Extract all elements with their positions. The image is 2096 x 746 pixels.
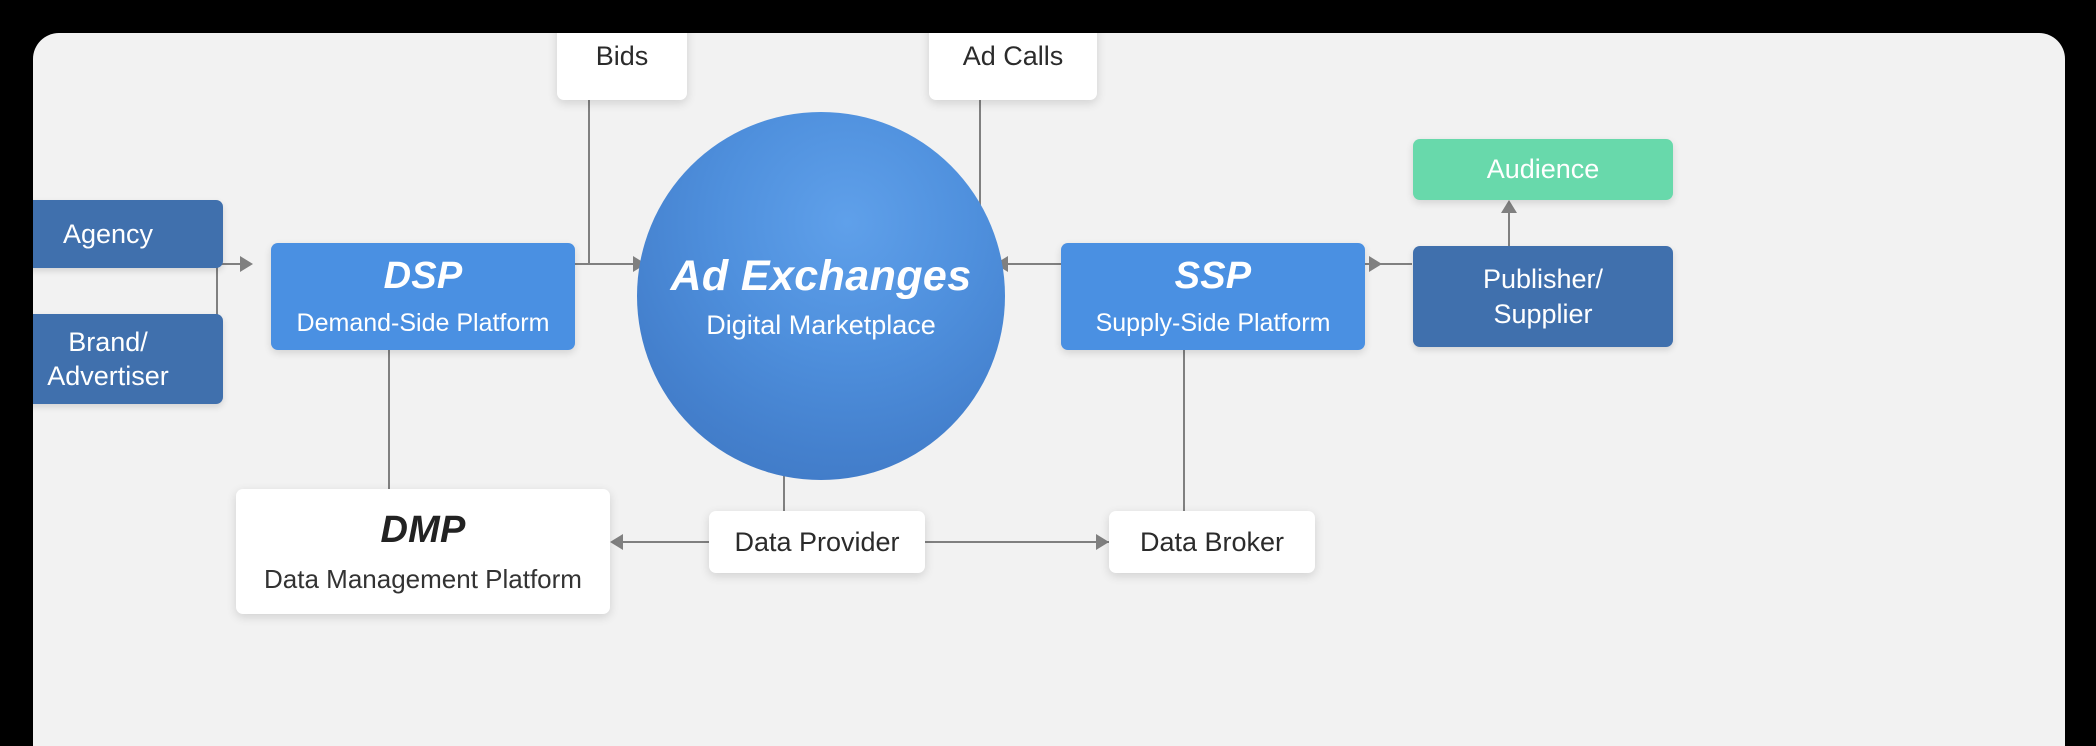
connector-dataprovider-to-databroker <box>924 541 1110 543</box>
node-audience[interactable]: Audience <box>1413 139 1673 200</box>
arrowhead-publisher-to-audience <box>1501 200 1517 213</box>
node-publisher-supplier-label-line2: Supplier <box>1493 297 1592 331</box>
connector-bids-down <box>588 100 590 264</box>
node-dmp-title: DMP <box>380 507 465 555</box>
arrowhead-bracket-to-dsp <box>240 256 253 272</box>
node-ssp-subtitle: Supply-Side Platform <box>1096 308 1331 340</box>
node-brand-advertiser[interactable]: Brand/ Advertiser <box>33 314 223 404</box>
node-data-provider-label: Data Provider <box>734 525 899 559</box>
node-data-broker[interactable]: Data Broker <box>1109 511 1315 573</box>
node-audience-label: Audience <box>1487 152 1600 186</box>
node-ssp[interactable]: SSP Supply-Side Platform <box>1061 243 1365 350</box>
connector-dataprovider-to-dmp <box>614 541 710 543</box>
node-brand-advertiser-label-line1: Brand/ <box>68 325 148 359</box>
node-agency[interactable]: Agency <box>33 200 223 268</box>
node-bids[interactable]: Bids <box>557 33 687 100</box>
arrowhead-dataprovider-to-databroker <box>1096 534 1109 550</box>
node-bids-label: Bids <box>596 39 649 73</box>
node-ad-exchanges[interactable]: Ad Exchanges Digital Marketplace <box>637 112 1005 480</box>
node-publisher-supplier[interactable]: Publisher/ Supplier <box>1413 246 1673 347</box>
node-dsp-title: DSP <box>384 253 463 301</box>
node-dsp[interactable]: DSP Demand-Side Platform <box>271 243 575 350</box>
node-dmp[interactable]: DMP Data Management Platform <box>236 489 610 614</box>
diagram-panel: Agency Brand/ Advertiser DSP Demand-Side… <box>33 33 2065 746</box>
node-agency-label: Agency <box>63 217 153 251</box>
node-publisher-supplier-label-line1: Publisher/ <box>1483 262 1603 296</box>
node-data-broker-label: Data Broker <box>1140 525 1284 559</box>
node-ad-exchanges-title: Ad Exchanges <box>670 252 971 301</box>
node-ssp-title: SSP <box>1175 253 1252 301</box>
arrowhead-dataprovider-to-dmp <box>610 534 623 550</box>
node-ad-calls-label: Ad Calls <box>963 39 1064 73</box>
node-data-provider[interactable]: Data Provider <box>709 511 925 573</box>
node-brand-advertiser-label-line2: Advertiser <box>47 359 169 393</box>
connector-publisher-to-audience <box>1508 208 1510 247</box>
diagram-canvas: Agency Brand/ Advertiser DSP Demand-Side… <box>0 0 2096 746</box>
arrowhead-ssp-to-publisher <box>1369 256 1382 272</box>
node-dsp-subtitle: Demand-Side Platform <box>297 308 550 340</box>
node-dmp-subtitle: Data Management Platform <box>264 563 582 596</box>
node-ad-exchanges-subtitle: Digital Marketplace <box>706 310 936 341</box>
node-ad-calls[interactable]: Ad Calls <box>929 33 1097 100</box>
